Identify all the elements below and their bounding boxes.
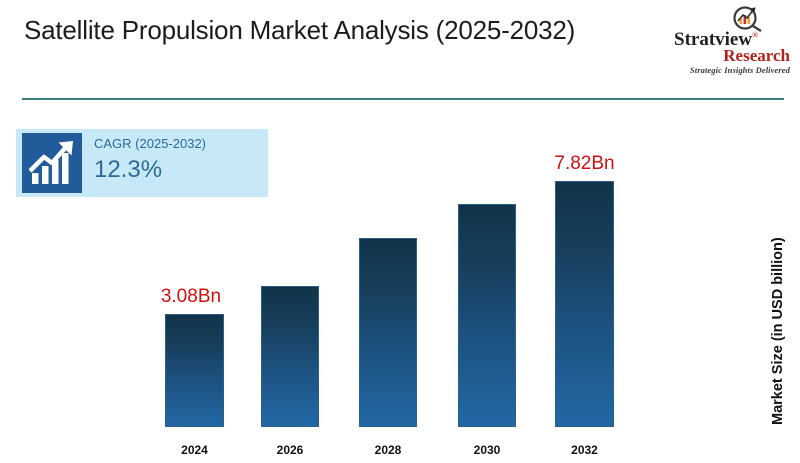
- bar-category-label: 2026: [277, 443, 304, 457]
- logo-tagline: Strategic Insights Delivered: [674, 65, 790, 75]
- page-title: Satellite Propulsion Market Analysis (20…: [24, 12, 664, 48]
- page-header: Satellite Propulsion Market Analysis (20…: [0, 0, 800, 100]
- brand-logo: Stratview® Research Strategic Insights D…: [674, 4, 792, 76]
- bar-2024[interactable]: [165, 314, 224, 427]
- bar-value-label: 3.08Bn: [161, 286, 221, 308]
- magnifier-bar-chart-arrow-icon: [730, 4, 764, 32]
- registered-trademark-icon: ®: [752, 31, 758, 40]
- bar-value-label: 7.82Bn: [554, 153, 614, 175]
- bar-category-label: 2030: [474, 443, 501, 457]
- bar-category-label: 2024: [181, 443, 208, 457]
- y-axis-title: Market Size (in USD billion): [770, 175, 794, 425]
- bar-2028[interactable]: [359, 238, 417, 427]
- bar-chart: 3.08Bn 2024 2026 2028 2030 7.82Bn 2032 M…: [0, 100, 800, 463]
- bar-2032[interactable]: [555, 181, 614, 427]
- bar-category-label: 2032: [571, 443, 598, 457]
- bar-2030[interactable]: [458, 204, 516, 427]
- logo-second-line: Research: [674, 46, 790, 66]
- bar-category-label: 2028: [375, 443, 402, 457]
- bar-2026[interactable]: [261, 286, 319, 427]
